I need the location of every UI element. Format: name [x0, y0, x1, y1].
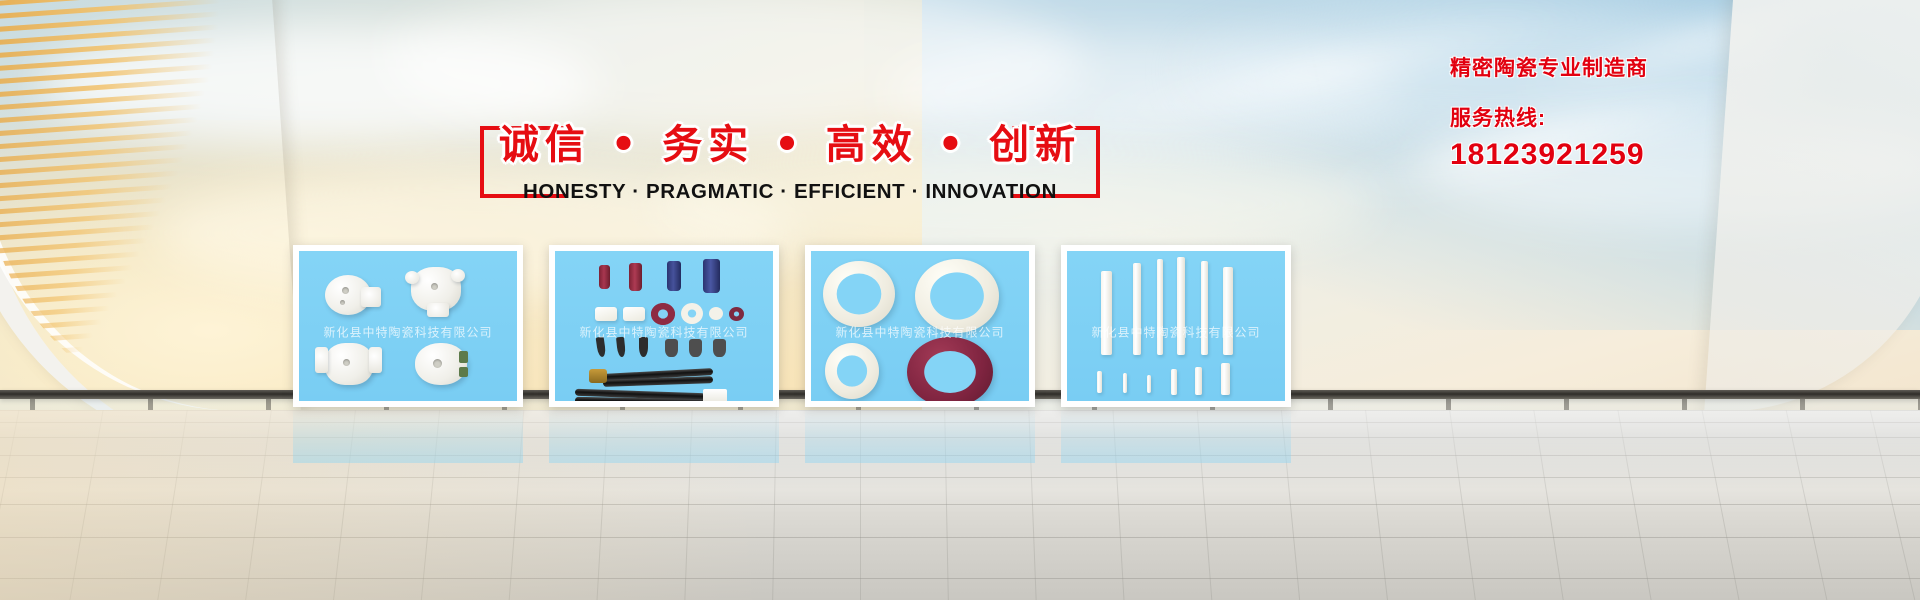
product-panel-ceramic-rings[interactable]: 新化县中特陶瓷科技有限公司 [805, 245, 1035, 407]
product-panel-ceramic-sockets[interactable]: 新化县中特陶瓷科技有限公司 [293, 245, 523, 407]
panel-watermark: 新化县中特陶瓷科技有限公司 [323, 324, 492, 341]
panel-watermark: 新化县中特陶瓷科技有限公司 [1091, 324, 1260, 341]
hotline-number[interactable]: 18123921259 [1450, 138, 1880, 172]
slogan-english: HONESTY · PRAGMATIC · EFFICIENT · INNOVA… [480, 180, 1100, 204]
product-panel-ceramic-rods[interactable]: 新化县中特陶瓷科技有限公司 [1061, 245, 1291, 407]
slogan-block: 诚信 • 务实 • 高效 • 创新 HONESTY · PRAGMATIC · … [480, 108, 1100, 208]
panel-reflection [293, 407, 523, 463]
architecture-slats [0, 0, 262, 440]
contact-tagline: 精密陶瓷专业制造商 [1450, 52, 1880, 82]
panel-reflection [805, 407, 1035, 463]
panel-reflection [549, 407, 779, 463]
product-gallery: 新化县中特陶瓷科技有限公司 [293, 245, 1291, 407]
panel-watermark: 新化县中特陶瓷科技有限公司 [579, 324, 748, 341]
contact-block: 精密陶瓷专业制造商 服务热线: 18123921259 [1450, 52, 1880, 172]
panel-reflection [1061, 407, 1291, 463]
product-panel-ceramic-tubes[interactable]: 新化县中特陶瓷科技有限公司 [549, 245, 779, 407]
slogan-chinese: 诚信 • 务实 • 高效 • 创新 [480, 112, 1100, 170]
hotline-label: 服务热线: [1450, 102, 1880, 132]
hero-banner: 诚信 • 务实 • 高效 • 创新 HONESTY · PRAGMATIC · … [0, 0, 1920, 600]
